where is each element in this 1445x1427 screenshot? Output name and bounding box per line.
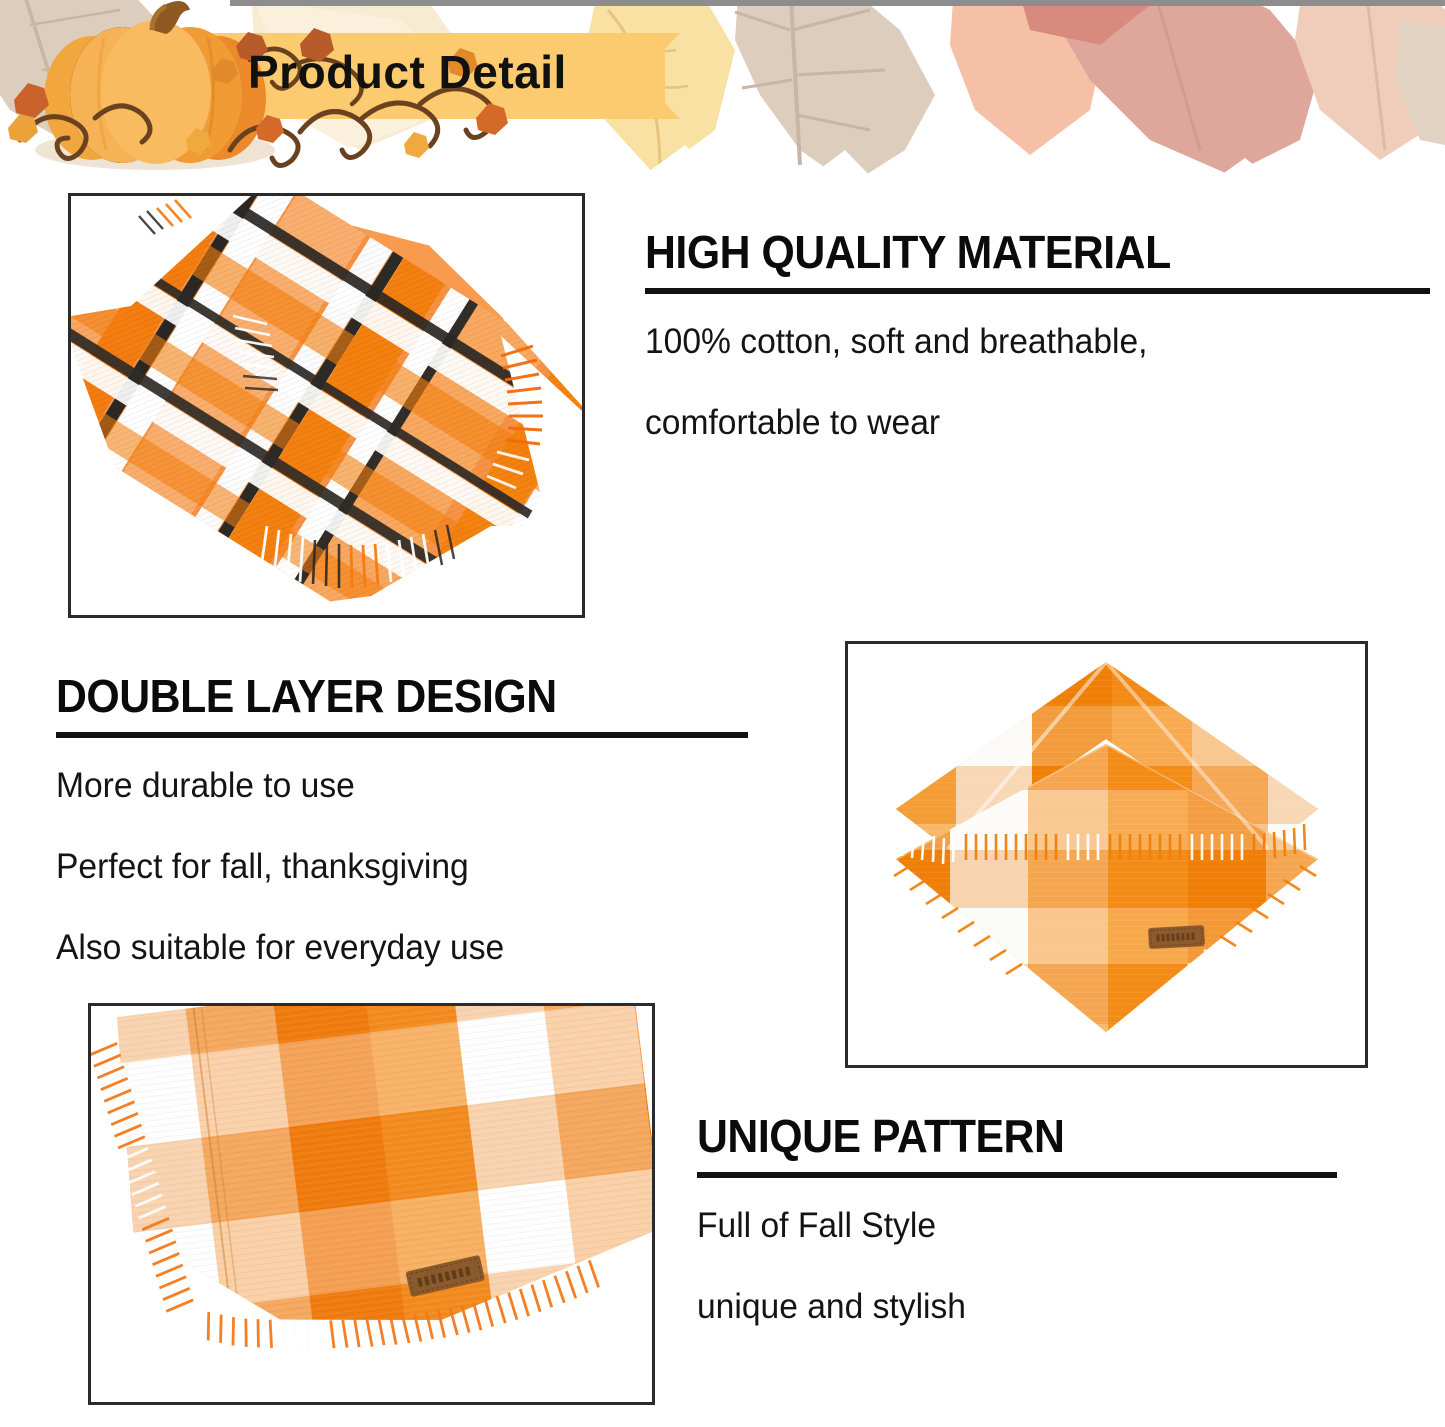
feature-heading-rule: [56, 732, 748, 738]
feature-body-line: 100% cotton, soft and breathable,: [645, 324, 1403, 359]
product-photo-fringe-closeup[interactable]: [68, 193, 585, 618]
feature-heading: HIGH QUALITY MATERIAL: [645, 228, 1380, 276]
banner-title: Product Detail: [248, 45, 648, 99]
folded-triangle-illustration: [848, 644, 1365, 1065]
feature-body-line: unique and stylish: [697, 1289, 1311, 1324]
product-detail-page: Product Detail: [0, 0, 1445, 1427]
feature-block-high-quality-material: HIGH QUALITY MATERIAL 100% cotton, soft …: [645, 228, 1435, 440]
feature-heading-rule: [645, 288, 1430, 294]
feature-body-line: More durable to use: [56, 768, 728, 803]
feature-block-double-layer-design: DOUBLE LAYER DESIGN More durable to use …: [56, 672, 756, 965]
feature-body-line: Full of Fall Style: [697, 1208, 1311, 1243]
feature-block-unique-pattern: UNIQUE PATTERN Full of Fall Style unique…: [697, 1112, 1337, 1324]
feature-body-line: Also suitable for everyday use: [56, 930, 728, 965]
product-photo-flat-plaid[interactable]: [88, 1003, 655, 1405]
feature-body: 100% cotton, soft and breathable, comfor…: [645, 324, 1435, 440]
fringe-closeup-illustration: [71, 196, 582, 615]
feature-body: More durable to use Perfect for fall, th…: [56, 768, 756, 965]
product-photo-folded-triangle[interactable]: [845, 641, 1368, 1068]
top-divider-rule: [230, 0, 1445, 6]
flat-plaid-illustration: [91, 1006, 652, 1402]
feature-body: Full of Fall Style unique and stylish: [697, 1208, 1337, 1324]
leather-label: [1148, 925, 1205, 949]
feature-heading: DOUBLE LAYER DESIGN: [56, 672, 707, 720]
header-banner-region: Product Detail: [0, 0, 1445, 190]
feature-body-line: Perfect for fall, thanksgiving: [56, 849, 728, 884]
feature-body-line: comfortable to wear: [645, 405, 1403, 440]
feature-heading: UNIQUE PATTERN: [697, 1112, 1292, 1160]
feature-heading-rule: [697, 1172, 1337, 1178]
